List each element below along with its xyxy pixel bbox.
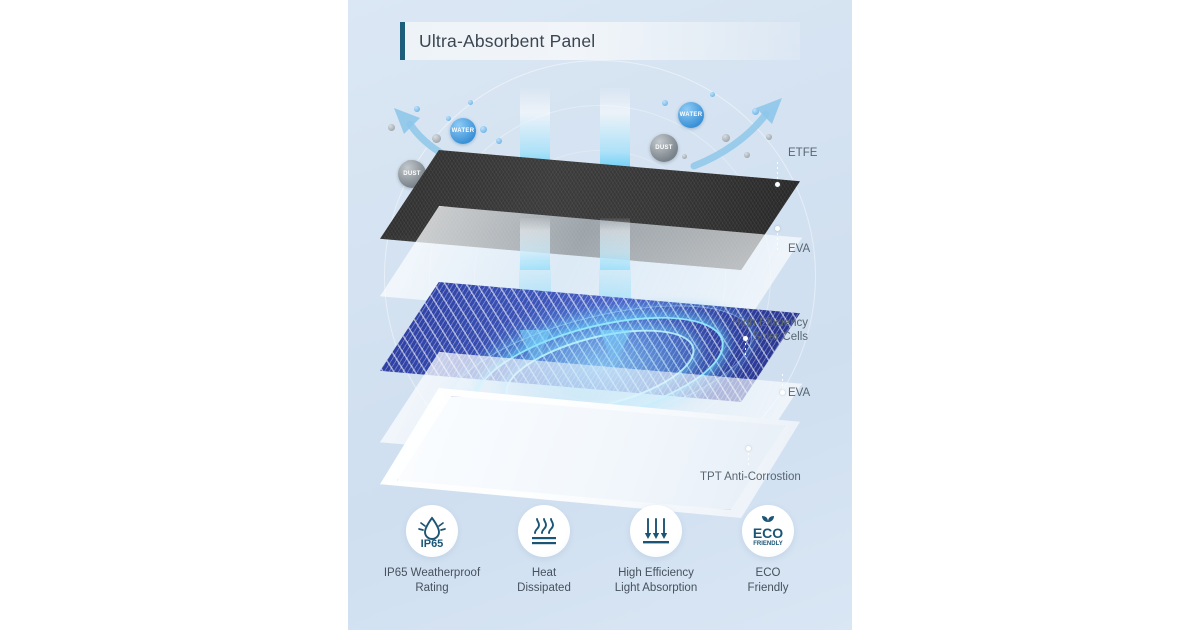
feature-row: IP65 IP65 Weatherproof Rating Heat Dissi…: [380, 505, 820, 615]
leader-dot-tpt: [746, 446, 751, 451]
feature-label: Heat Dissipated: [517, 566, 571, 596]
particle-dot: [432, 134, 441, 143]
feature-light-absorption: High Efficiency Light Absorption: [604, 505, 708, 596]
particle-dot: [406, 160, 411, 165]
callout-eva-upper: EVA: [788, 242, 810, 256]
particle-dot: [710, 92, 715, 97]
repel-arrow-right-icon: [682, 94, 792, 172]
feature-icon-circle: [518, 505, 570, 557]
callout-etfe: ETFE: [788, 146, 817, 160]
particle-dot: [658, 134, 665, 141]
particle-dot: [414, 106, 420, 112]
particle-dot: [682, 154, 687, 159]
feature-label: IP65 Weatherproof Rating: [384, 566, 480, 596]
eco-badge-sub: FRIENDLY: [753, 541, 782, 547]
callout-eva-lower: EVA: [788, 386, 810, 400]
exploded-layer-stack: WATER DUST WATER DUST: [348, 0, 852, 520]
content-panel: Ultra-Absorbent Panel: [348, 0, 852, 630]
feature-eco: ECO FRIENDLY ECO Friendly: [716, 505, 820, 596]
callout-tpt: TPT Anti-Corrostion: [700, 470, 801, 484]
particle-dot: [692, 120, 697, 125]
particle-dot: [388, 124, 395, 131]
callout-solar-cells: High Efficiency Solar Cells: [648, 316, 808, 345]
feature-icon-circle: IP65: [406, 505, 458, 557]
feature-ip65: IP65 IP65 Weatherproof Rating: [380, 505, 484, 596]
water-badge: WATER: [450, 118, 476, 144]
particle-dot: [766, 134, 772, 140]
svg-text:IP65: IP65: [421, 538, 444, 550]
leader-dot-eva-lower: [780, 390, 785, 395]
infographic-canvas: Ultra-Absorbent Panel: [0, 0, 1200, 630]
eco-leaf-icon: ECO FRIENDLY: [747, 510, 789, 552]
leader-line-eva-upper: [777, 228, 778, 250]
water-drop-ip65-icon: IP65: [412, 511, 452, 551]
particle-dot: [496, 138, 502, 144]
leader-dot-eva-upper: [775, 226, 780, 231]
feature-icon-circle: [630, 505, 682, 557]
particle-dot: [722, 134, 730, 142]
heat-waves-icon: [525, 512, 563, 550]
particle-dot: [752, 108, 759, 115]
particle-dot: [480, 126, 487, 133]
feature-label: High Efficiency Light Absorption: [615, 566, 697, 596]
feature-icon-circle: ECO FRIENDLY: [742, 505, 794, 557]
particle-dot: [446, 116, 451, 121]
leader-line-tpt: [748, 448, 749, 468]
particle-dot: [744, 152, 750, 158]
light-arrows-icon: [637, 512, 675, 550]
dust-badge: DUST: [650, 134, 678, 162]
feature-label: ECO Friendly: [748, 566, 789, 596]
feature-heat: Heat Dissipated: [492, 505, 596, 596]
particle-dot: [662, 100, 668, 106]
water-badge: WATER: [678, 102, 704, 128]
eco-badge-text: ECO: [753, 525, 783, 541]
leader-dot-etfe: [775, 182, 780, 187]
particle-dot: [468, 100, 473, 105]
leader-line-etfe: [777, 162, 778, 184]
